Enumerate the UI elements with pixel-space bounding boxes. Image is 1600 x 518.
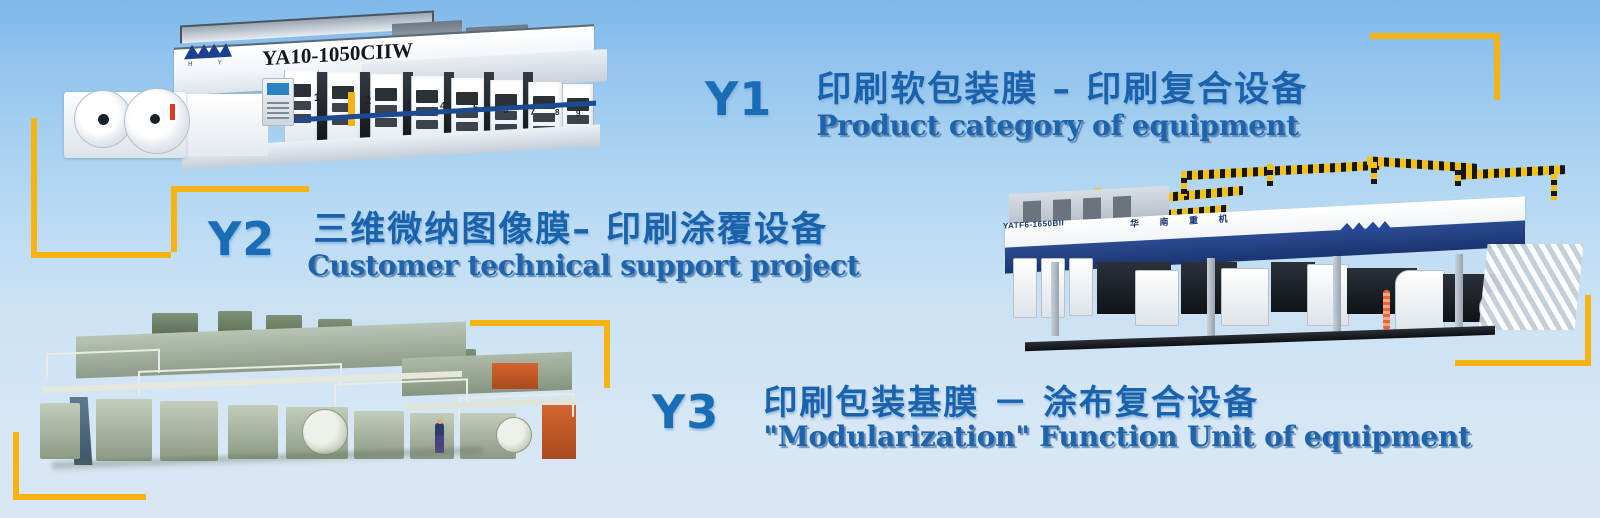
entry-row-y3: Y3 印刷包装基膜 － 涂布复合设备 "Modularization" Func… [652, 385, 1471, 451]
m2-unit-cabinet [1221, 268, 1269, 326]
m2-stairs [1478, 244, 1583, 330]
m1-print-unit [327, 72, 362, 146]
bracket-top-right-vertical [1494, 33, 1500, 100]
bracket-bottom-left-horizontal [13, 494, 146, 500]
entry-title-cn-y1: 印刷软包装膜 – 印刷复合设备 [816, 72, 1308, 109]
m2-base-platform [1025, 326, 1495, 351]
m2-unit-cabinet [1307, 264, 1349, 326]
machine-image-laminating-line: 华 南 重 机 YATF6-1650BII [985, 158, 1585, 358]
entry-title-cn-y3: 印刷包装基膜 － 涂布复合设备 [763, 385, 1471, 421]
bracket-left-top-horizontal [31, 252, 171, 258]
m1-unit-number: 3 [405, 98, 411, 110]
m2-safety-rail [1181, 161, 1381, 180]
m1-reel-hub [150, 114, 160, 124]
m1-red-indicator [170, 104, 175, 120]
m1-reel-hub [98, 114, 109, 125]
bracket-bottom-right-vertical [1585, 295, 1591, 365]
machine-image-paper-coating-line [22, 305, 582, 485]
m1-unit-number: 8 [555, 108, 559, 117]
m3-unit [40, 403, 80, 459]
entry-text-y1: 印刷软包装膜 – 印刷复合设备 Product category of equi… [816, 72, 1308, 140]
m1-unit-number: 9 [576, 109, 580, 118]
entry-text-y3: 印刷包装基膜 － 涂布复合设备 "Modularization" Functio… [763, 385, 1471, 451]
m2-rail-post [1455, 164, 1461, 186]
m2-support-leg [1051, 262, 1059, 336]
m2-rail-post [1551, 174, 1557, 200]
bracket-top-right-horizontal [1370, 33, 1500, 39]
entry-row-y1: Y1 印刷软包装膜 – 印刷复合设备 Product category of e… [705, 72, 1308, 140]
m3-unit [96, 399, 152, 461]
entry-title-en-y3: "Modularization" Function Unit of equipm… [763, 422, 1471, 451]
entry-title-en-y1: Product category of equipment [816, 111, 1308, 140]
m3-unit [160, 401, 218, 461]
promo-banner: H Y YA10-1050CIIW 1 2 3 4 5 6 7 8 9 [0, 0, 1600, 518]
m2-cable-coil [1383, 290, 1390, 330]
bracket-bottom-left-vertical [13, 432, 19, 500]
m1-side-cabinet [182, 94, 268, 156]
m2-rail-post [1181, 172, 1187, 196]
m3-drum [302, 409, 348, 455]
m1-unit-gap [317, 72, 327, 142]
m1-unit-number: 2 [365, 95, 371, 107]
bracket-mid-left-vertical [604, 320, 610, 388]
m2-unit-cabinet [1395, 270, 1445, 334]
bracket-mid-upper-vertical [171, 186, 177, 252]
bracket-bottom-right-horizontal [1455, 360, 1591, 366]
svg-text:H: H [188, 61, 193, 68]
bracket-left-top-vertical [31, 118, 37, 258]
entry-text-y2: 三维微纳图像膜– 印刷涂覆设备 Customer technical suppo… [313, 212, 859, 280]
m3-orange-unit [492, 363, 538, 389]
m2-brand-logo-icon [1335, 218, 1395, 237]
m2-unit-cabinet [1069, 258, 1093, 316]
entry-code-y1: Y1 [705, 76, 772, 122]
m2-support-leg [1333, 256, 1341, 336]
m3-drum [496, 417, 532, 453]
entry-row-y2: Y2 三维微纳图像膜– 印刷涂覆设备 Customer technical su… [208, 212, 860, 280]
m1-unit-number: 1 [314, 92, 320, 104]
entry-title-cn-y2: 三维微纳图像膜– 印刷涂覆设备 [313, 212, 859, 249]
m2-rail-post [1267, 164, 1273, 186]
bracket-mid-upper-horizontal [171, 186, 309, 192]
m2-unit-cabinet [1135, 270, 1179, 326]
machine-image-rotogravure-press: H Y YA10-1050CIIW 1 2 3 4 5 6 7 8 9 [62, 8, 602, 180]
m2-unit-cabinet [1013, 258, 1037, 318]
entry-title-en-y2: Customer technical support project [307, 251, 859, 280]
m2-support-leg [1207, 258, 1215, 336]
m1-unit-gap [360, 72, 370, 142]
entry-code-y3: Y3 [652, 389, 719, 435]
m1-control-panel [262, 78, 294, 126]
m1-yellow-marker [348, 92, 355, 126]
hy-brand-logo-icon: H Y [182, 39, 234, 68]
m3-unit [228, 405, 278, 459]
m2-support-leg [1455, 254, 1463, 336]
entry-code-y2: Y2 [208, 216, 275, 262]
m2-rail-post [1371, 162, 1377, 184]
